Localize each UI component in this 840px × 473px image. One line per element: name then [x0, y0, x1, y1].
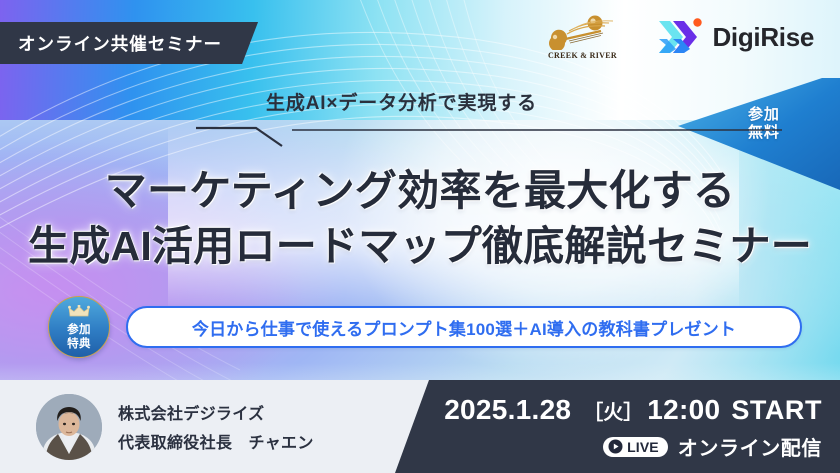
benefit-badge-line2: 特典 [67, 338, 91, 351]
event-start-label: START [731, 395, 822, 426]
delivery-text: オンライン配信 [678, 432, 822, 461]
live-badge: LIVE [603, 437, 668, 457]
speaker-block: 株式会社デジライズ 代表取締役社長 チャエン [36, 394, 314, 460]
seminar-type-label: オンライン共催セミナー [18, 31, 222, 56]
benefit-pill: 今日から仕事で使えるプロンプト集100選＋AI導入の教科書プレゼント [126, 306, 802, 348]
event-date: 2025.1.28 [444, 394, 571, 426]
logo-group: CREEK & RIVER DigiRise [543, 14, 814, 60]
crown-icon [68, 305, 90, 322]
crown-shape-icon [68, 305, 90, 318]
event-day-of-week: ［火］ [583, 396, 643, 425]
benefit-badge-line1: 参加 [67, 324, 91, 337]
subtitle-block: 生成AI×データ分析で実現する [196, 88, 537, 115]
speaker-title: 代表取締役社長 チャエン [118, 429, 314, 453]
main-title: マーケティング効率を最大化する 生成AI活用ロードマップ徹底解説セミナー [0, 163, 840, 273]
benefit-text: 今日から仕事で使えるプロンプト集100選＋AI導入の教科書プレゼント [192, 315, 736, 340]
creek-river-mark-icon [543, 14, 621, 50]
title-line-2: 生成AI活用ロードマップ徹底解説セミナー [0, 219, 840, 274]
live-badge-text: LIVE [627, 439, 659, 455]
benefit-row: 参加 特典 今日から仕事で使えるプロンプト集100選＋AI導入の教科書プレゼント [48, 296, 802, 358]
speaker-company: 株式会社デジライズ [118, 400, 314, 424]
date-line: 2025.1.28 ［火］ 12:00 START [444, 394, 822, 426]
speaker-text: 株式会社デジライズ 代表取締役社長 チャエン [118, 400, 314, 453]
benefit-badge: 参加 特典 [48, 296, 110, 358]
schedule-block: 2025.1.28 ［火］ 12:00 START LIVE オンライン配信 [444, 394, 822, 461]
event-time: 12:00 [647, 394, 720, 426]
subtitle-rule-decoration [196, 121, 782, 147]
live-line: LIVE オンライン配信 [603, 432, 822, 461]
title-line-1: マーケティング効率を最大化する [0, 163, 840, 219]
webinar-banner: オンライン共催セミナー CREEK & RIVER [0, 0, 840, 473]
bottom-bar: 株式会社デジライズ 代表取締役社長 チャエン 2025.1.28 ［火］ 12:… [0, 380, 840, 473]
creek-river-name: CREEK & RIVER [548, 51, 617, 60]
speaker-portrait [36, 394, 102, 460]
digirise-logo: DigiRise [657, 15, 814, 59]
speaker-photo-icon [36, 394, 102, 460]
digirise-mark-icon [657, 15, 703, 59]
seminar-type-tag: オンライン共催セミナー [0, 22, 258, 64]
subtitle-text: 生成AI×データ分析で実現する [196, 88, 537, 115]
play-icon [608, 439, 623, 454]
digirise-wordmark: DigiRise [712, 22, 814, 53]
creek-river-logo: CREEK & RIVER [543, 14, 621, 60]
